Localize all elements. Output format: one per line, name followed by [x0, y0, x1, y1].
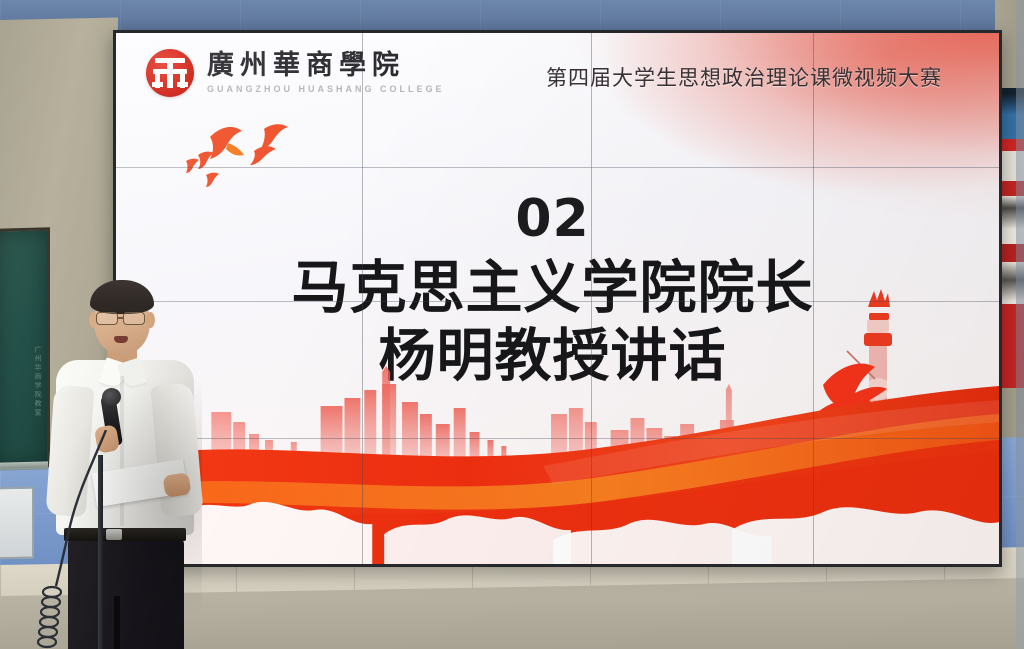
flying-birds-icon: [176, 111, 316, 191]
institution-name-cn: 廣州華商學院: [207, 52, 445, 80]
institution-logo-text: 廣州華商學院 GUANGZHOU HUASHANG COLLEGE: [207, 52, 445, 93]
screenshot-root: 广州华商学院教室 廣州華商學院 GUANGZHOU HUASHANG COLLE…: [0, 0, 1024, 649]
competition-title: 第四届大学生思想政治理论课微视频大赛: [546, 62, 942, 92]
speaker-brow-left: [98, 307, 116, 310]
institution-name-en: GUANGZHOU HUASHANG COLLEGE: [207, 84, 445, 94]
white-clouds-icon: [116, 474, 999, 564]
eyeglasses-bridge: [118, 317, 123, 319]
eyeglasses-lens-right-icon: [123, 312, 145, 325]
speaker-mouth: [114, 336, 128, 343]
eyeglasses-icon: [96, 312, 118, 325]
coiled-cable-icon: [30, 430, 120, 649]
right-wall-edge: [1016, 0, 1024, 649]
huashang-seal-icon: [146, 49, 194, 97]
chalkboard-text: 广州华商学院教室: [34, 346, 41, 418]
wall-cabinet-icon: [0, 487, 34, 560]
speaker-brow-right: [125, 307, 143, 310]
slide-canvas: 廣州華商學院 GUANGZHOU HUASHANG COLLEGE 第四届大学生…: [116, 33, 999, 564]
institution-logo: 廣州華商學院 GUANGZHOU HUASHANG COLLEGE: [146, 49, 445, 97]
section-number: 02: [116, 193, 989, 245]
led-video-wall: 廣州華商學院 GUANGZHOU HUASHANG COLLEGE 第四届大学生…: [113, 30, 1002, 567]
speaker-ear-right: [146, 312, 155, 328]
